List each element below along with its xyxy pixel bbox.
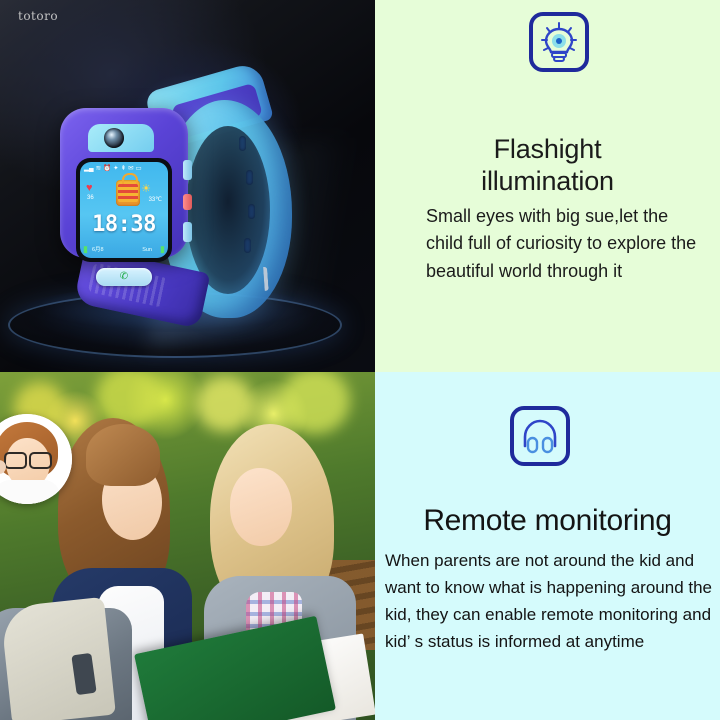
lock-icon bbox=[116, 180, 140, 206]
heart-icon: ♥ bbox=[86, 182, 93, 194]
flashlight-heading-line1: Flashight bbox=[375, 134, 720, 166]
heart-rate-value: 36 bbox=[87, 195, 94, 201]
watch-home-button[interactable]: ✆ bbox=[96, 268, 152, 286]
backpack-strap bbox=[0, 597, 116, 720]
band-hole bbox=[246, 170, 253, 185]
product-photo-watch: totoro bbox=[0, 0, 375, 372]
girl-brunette-hair-front bbox=[86, 424, 160, 486]
product-infographic: totoro bbox=[0, 0, 720, 720]
glasses-icon bbox=[4, 452, 52, 465]
avatar bbox=[0, 414, 72, 504]
lifestyle-photo-kids bbox=[0, 372, 375, 720]
watch-screen-content: ▂▄ ≋ ⏰ ✦ ⇞ ✉ ▭ ♥ 36 ☀ 33℃ bbox=[80, 162, 168, 258]
headphones-icon bbox=[510, 406, 570, 466]
bluetooth-icon: ✦ bbox=[113, 166, 118, 173]
message-icon: ✉ bbox=[128, 166, 133, 173]
temperature-value: 33℃ bbox=[149, 196, 162, 203]
battery-icon: ▭ bbox=[136, 166, 142, 173]
signal-icon: ▂▄ bbox=[84, 166, 94, 173]
flashlight-heading: Flashight illumination bbox=[375, 134, 720, 198]
avatar-shirt bbox=[0, 480, 60, 504]
band-hole bbox=[239, 136, 246, 151]
lock-stripes bbox=[118, 184, 138, 202]
flashlight-heading-line2: illumination bbox=[375, 166, 720, 198]
smart-watch: ▂▄ ≋ ⏰ ✦ ⇞ ✉ ▭ ♥ 36 ☀ 33℃ bbox=[54, 74, 294, 324]
camera-lens-icon bbox=[104, 128, 124, 148]
wifi-icon: ≋ bbox=[96, 166, 101, 173]
watch-sos-button[interactable] bbox=[183, 194, 192, 210]
watch-screen[interactable]: ▂▄ ≋ ⏰ ✦ ⇞ ✉ ▭ ♥ 36 ☀ 33℃ bbox=[76, 158, 172, 262]
battery-left-icon: ▮ bbox=[83, 244, 88, 255]
girl-blonde-face bbox=[230, 468, 292, 546]
alarm-icon: ⏰ bbox=[103, 166, 111, 173]
remote-monitoring-feature-panel: Remote monitoring When parents are not a… bbox=[375, 372, 720, 720]
battery-right-icon: ▮ bbox=[160, 244, 165, 255]
remote-heading: Remote monitoring bbox=[375, 504, 720, 538]
lightbulb-icon bbox=[529, 12, 589, 72]
watch-day: Sun bbox=[142, 247, 152, 253]
remote-body-text: When parents are not around the kid and … bbox=[385, 548, 712, 655]
lightbulb-icon-svg bbox=[533, 16, 585, 68]
watch-side-button-2[interactable] bbox=[183, 222, 192, 242]
flashlight-body-text: Small eyes with big sue,let the child fu… bbox=[426, 203, 706, 285]
band-hole bbox=[244, 238, 251, 253]
watch-status-bar: ▂▄ ≋ ⏰ ✦ ⇞ ✉ ▭ bbox=[84, 165, 164, 174]
watch-side-button[interactable] bbox=[183, 160, 192, 180]
steps-icon: ⇞ bbox=[121, 166, 126, 173]
watch-case: ▂▄ ≋ ⏰ ✦ ⇞ ✉ ▭ ♥ 36 ☀ 33℃ bbox=[60, 108, 188, 258]
band-hole bbox=[248, 204, 255, 219]
headphones-icon-svg bbox=[514, 410, 566, 462]
watermark-totoro: totoro bbox=[18, 9, 58, 23]
watch-time: 18:38 bbox=[80, 212, 168, 237]
watch-date: 6月8 bbox=[92, 245, 104, 253]
flashlight-feature-panel: Flashight illumination Small eyes with b… bbox=[375, 0, 720, 372]
phone-call-icon: ✆ bbox=[120, 272, 128, 282]
sun-icon: ☀ bbox=[141, 182, 151, 195]
